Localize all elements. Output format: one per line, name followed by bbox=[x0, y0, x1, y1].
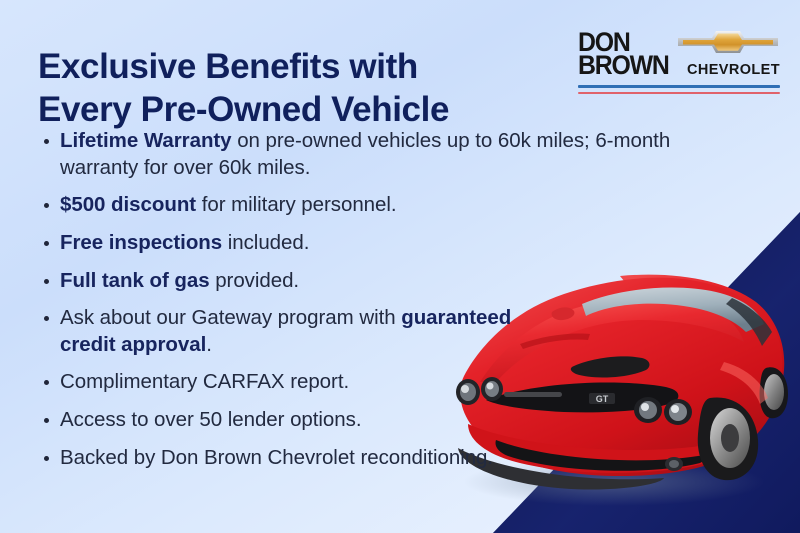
benefit-bold: Lifetime Warranty bbox=[60, 129, 232, 152]
logo-stripe-red bbox=[578, 92, 780, 95]
list-item: Ask about our Gateway program with guara… bbox=[38, 305, 540, 358]
benefit-text: Access to over 50 lender options. bbox=[60, 408, 361, 431]
benefits-list: Lifetime Warranty on pre-owned vehicles … bbox=[38, 128, 718, 482]
list-item: Lifetime Warranty on pre-owned vehicles … bbox=[38, 128, 718, 181]
benefit-bold: $500 discount bbox=[60, 193, 196, 216]
benefit-text: included. bbox=[222, 231, 309, 254]
logo-word-brown: BROWN bbox=[578, 52, 669, 79]
list-item: Free inspections included. bbox=[38, 230, 718, 257]
benefit-bold: Free inspections bbox=[60, 231, 222, 254]
list-item: Complimentary CARFAX report. bbox=[38, 369, 718, 396]
list-item: Backed by Don Brown Chevrolet reconditio… bbox=[38, 445, 540, 472]
list-item: Access to over 50 lender options. bbox=[38, 407, 718, 434]
benefit-text: Complimentary CARFAX report. bbox=[60, 370, 349, 393]
headline-line-2: Every Pre-Owned Vehicle bbox=[38, 88, 568, 131]
benefit-lead: Ask about our Gateway program with bbox=[60, 306, 401, 329]
benefit-text: provided. bbox=[210, 269, 300, 292]
benefit-text: . bbox=[206, 333, 212, 356]
page-title: Exclusive Benefits with Every Pre-Owned … bbox=[38, 45, 568, 131]
benefit-text: for military personnel. bbox=[196, 193, 396, 216]
list-item: $500 discount for military personnel. bbox=[38, 192, 718, 219]
logo-stripe-blue bbox=[578, 85, 780, 88]
benefit-text: Backed by Don Brown Chevrolet reconditio… bbox=[60, 446, 493, 469]
dealer-logo[interactable]: DON bbox=[578, 28, 780, 94]
headline-line-1: Exclusive Benefits with bbox=[38, 45, 568, 88]
promo-banner: Exclusive Benefits with Every Pre-Owned … bbox=[0, 0, 800, 533]
logo-brand-chevrolet: CHEVROLET bbox=[687, 63, 780, 80]
benefit-bold: Full tank of gas bbox=[60, 269, 210, 292]
list-item: Full tank of gas provided. bbox=[38, 268, 718, 295]
logo-stripes bbox=[578, 85, 780, 94]
